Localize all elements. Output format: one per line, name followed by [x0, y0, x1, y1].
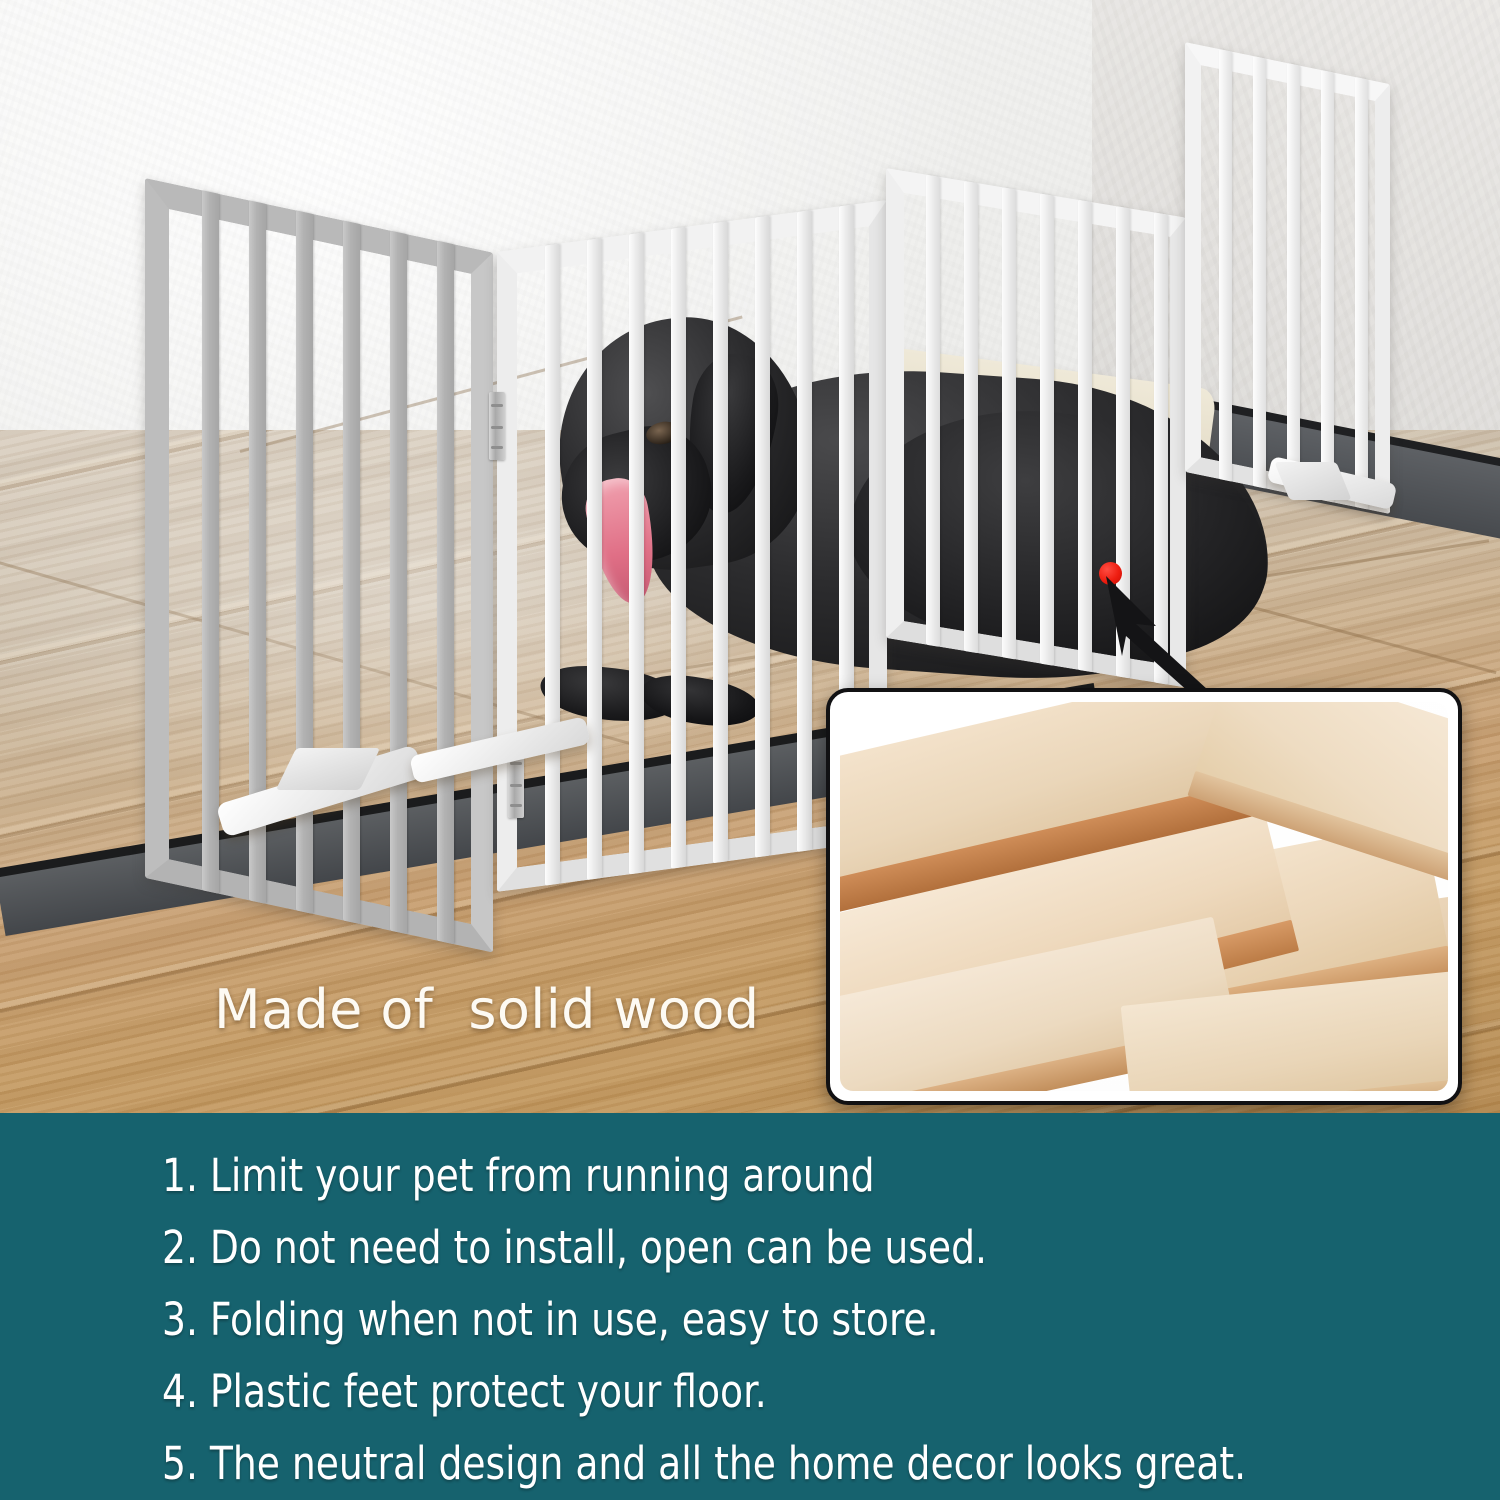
feature-item-5: 5. The neutral design and all the home d…	[162, 1441, 1406, 1486]
wood-boards-image	[840, 702, 1448, 1091]
gate-panel-1	[145, 178, 493, 953]
product-photo-scene: Made of solid wood	[0, 0, 1500, 1113]
hinge-upper	[489, 392, 505, 460]
panel-4-slats	[1185, 42, 1390, 514]
product-infographic: Made of solid wood 1. Limit your pet fro…	[0, 0, 1500, 1500]
feature-item-1: 1. Limit your pet from running around	[162, 1153, 1406, 1198]
solid-wood-inset-photo	[826, 688, 1462, 1105]
feature-item-2: 2. Do not need to install, open can be u…	[162, 1225, 1406, 1270]
panel-1-slats	[145, 178, 493, 953]
feature-item-3: 3. Folding when not in use, easy to stor…	[162, 1297, 1406, 1342]
floor-caption: Made of solid wood	[214, 978, 759, 1041]
feature-list-panel: 1. Limit your pet from running around 2.…	[0, 1113, 1500, 1500]
feature-item-4: 4. Plastic feet protect your floor.	[162, 1369, 1406, 1414]
gate-panel-4	[1185, 42, 1390, 514]
